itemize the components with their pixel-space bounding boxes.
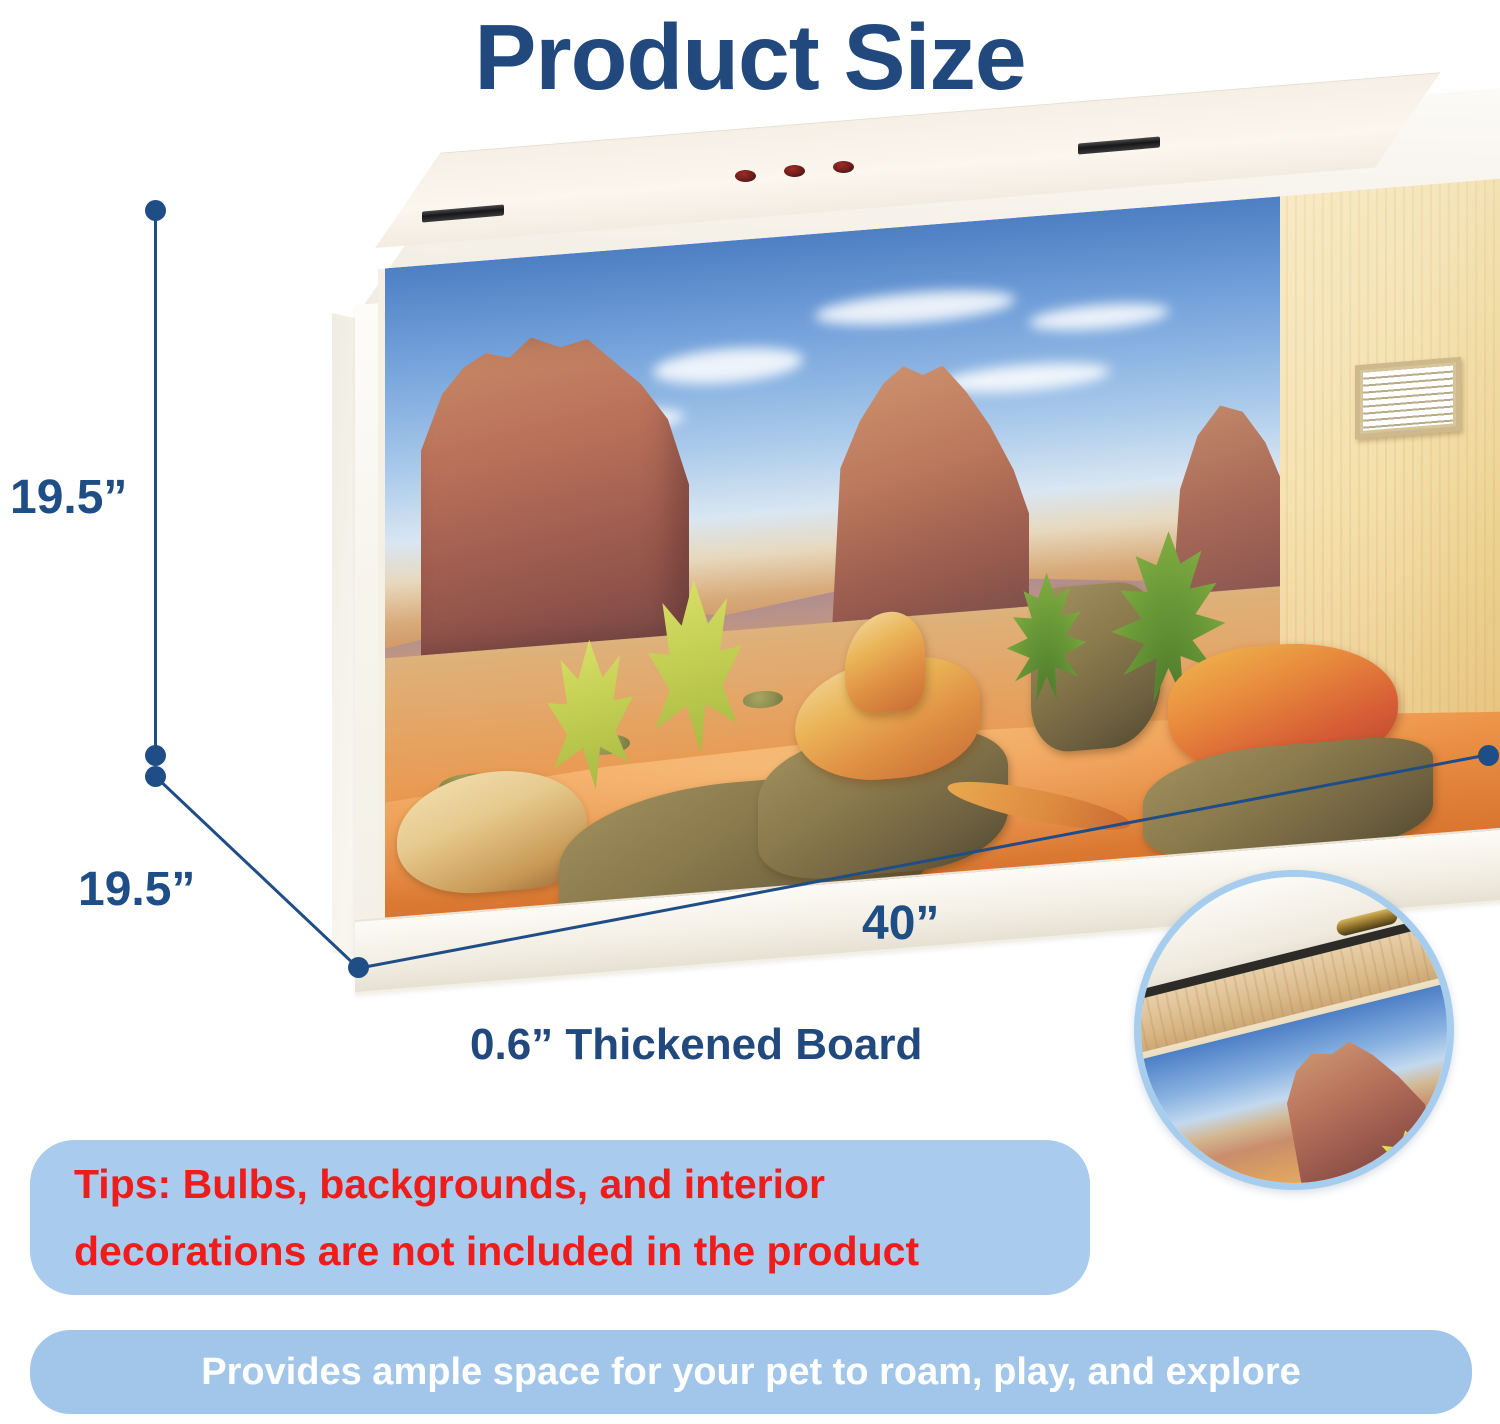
depth-dim-dot-bottom — [348, 957, 369, 978]
height-dim-dot-bottom — [145, 745, 166, 766]
vent-slats — [1363, 365, 1453, 430]
tips-callout-box: Tips: Bulbs, backgrounds, and interior d… — [30, 1140, 1090, 1295]
depth-dim-dot-top — [145, 766, 166, 787]
ample-space-banner: Provides ample space for your pet to roa… — [30, 1330, 1472, 1414]
mesa-formation — [421, 325, 689, 656]
ample-space-text: Provides ample space for your pet to roa… — [201, 1351, 1301, 1394]
product-size-infographic: Product Size — [0, 0, 1500, 1424]
width-dim-label: 40” — [862, 896, 939, 951]
cable-grommet-icon — [735, 170, 756, 182]
cable-grommet-icon — [833, 161, 854, 173]
interior-vent-icon — [1355, 357, 1461, 440]
product-photo — [150, 130, 1500, 990]
height-dim-label: 19.5” — [10, 470, 127, 525]
width-dim-dot-right — [1478, 745, 1499, 766]
enclosure-interior-view — [378, 168, 1500, 941]
cable-grommet-icon — [784, 165, 805, 177]
board-thickness-detail-inset — [1134, 870, 1454, 1190]
depth-dim-label: 19.5” — [78, 862, 195, 917]
height-dim-line — [154, 210, 157, 755]
tips-line-1: Tips: Bulbs, backgrounds, and interior — [74, 1151, 1046, 1217]
thickness-label: 0.6” Thickened Board — [470, 1020, 922, 1070]
tips-line-2: decorations are not included in the prod… — [74, 1218, 1046, 1284]
